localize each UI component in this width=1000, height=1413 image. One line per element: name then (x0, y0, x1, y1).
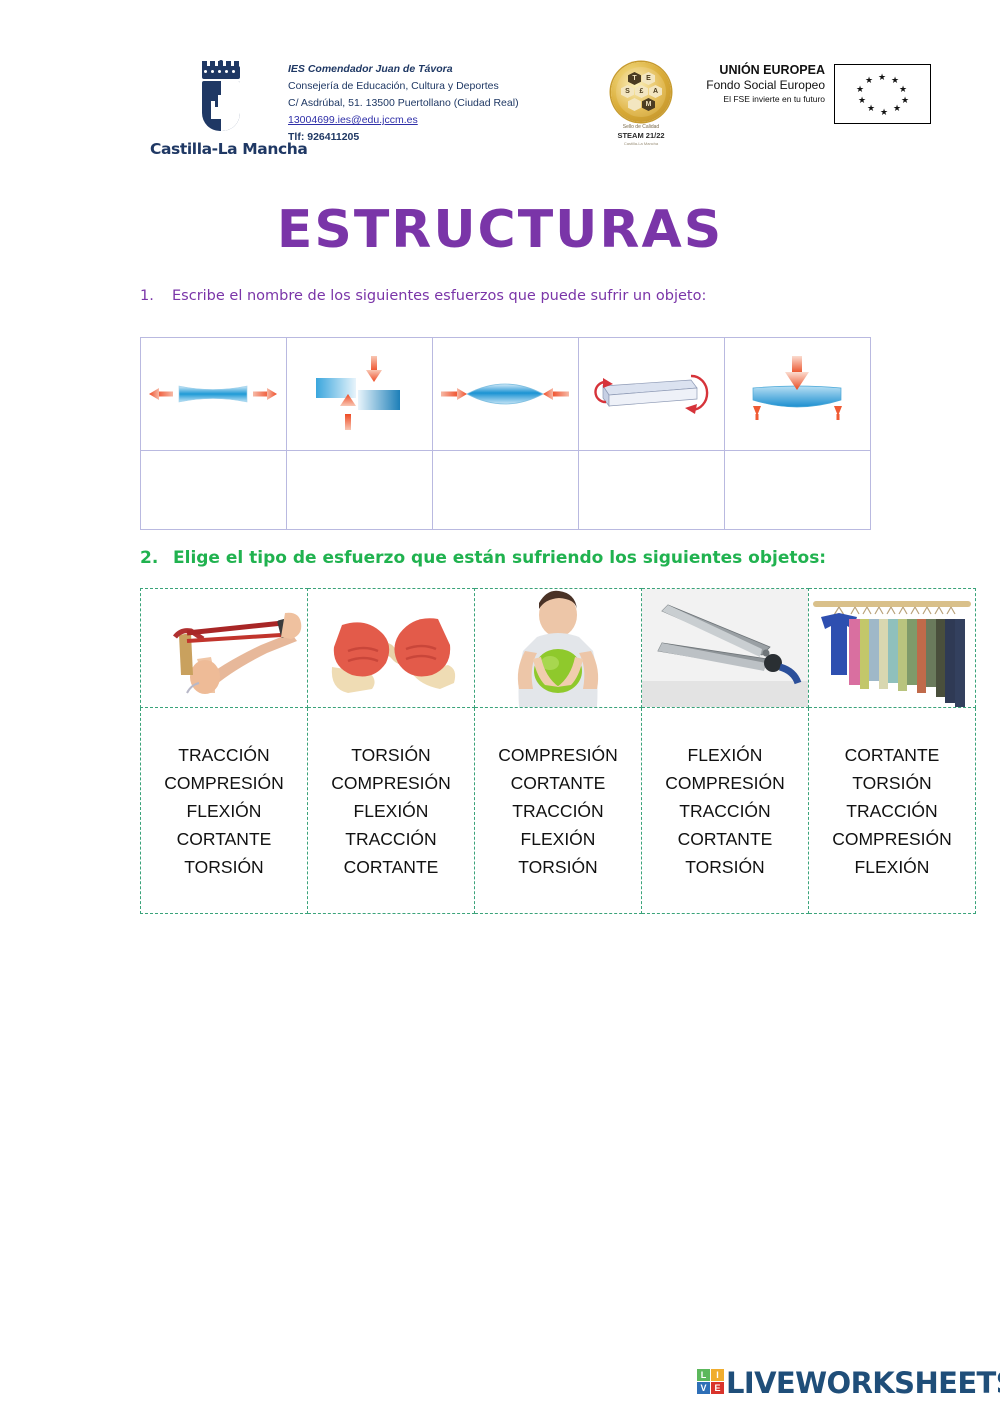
cell-options-4[interactable]: FLEXIÓN COMPRESIÓN TRACCIÓN CORTANTE TOR… (642, 708, 809, 914)
page-header: Castilla-La Mancha IES Comendador Juan d… (0, 0, 1000, 185)
question-2-text: Elige el tipo de esfuerzo que están sufr… (173, 548, 826, 568)
cell-diagram-traccion (141, 338, 287, 451)
liveworksheets-wordmark: LIVEWORKSHEETS (726, 1366, 1000, 1400)
question-1: 1.Escribe el nombre de los siguientes es… (140, 288, 706, 304)
hex-center: £ (635, 85, 648, 98)
eu-flag-icon: ★ ★ ★ ★ ★ ★ ★ ★ ★ ★ (834, 64, 931, 124)
school-address-block: IES Comendador Juan de Távora Consejería… (288, 60, 578, 146)
traccion-diagram (141, 338, 286, 450)
option-item[interactable]: CORTANTE (477, 769, 639, 797)
page-title: ESTRUCTURAS (0, 200, 1000, 260)
hex-t: T (628, 72, 641, 85)
seal-medal-icon: T E S £ A M (611, 62, 671, 122)
photo-wringing-cloth (308, 589, 474, 707)
eu-funding-block: UNIÓN EUROPEA Fondo Social Europeo El FS… (700, 62, 930, 122)
options-list-4[interactable]: FLEXIÓN COMPRESIÓN TRACCIÓN CORTANTE TOR… (642, 735, 808, 887)
cortante-diagram (287, 338, 432, 450)
photo-slingshot (141, 589, 307, 707)
option-item[interactable]: TORSIÓN (310, 741, 472, 769)
cell-options-1[interactable]: TRACCIÓN COMPRESIÓN FLEXIÓN CORTANTE TOR… (141, 708, 308, 914)
email-link[interactable]: 13004699.ies@edu.jccm.es (288, 112, 578, 129)
cell-diagram-compresion (433, 338, 579, 451)
option-item[interactable]: FLEXIÓN (477, 825, 639, 853)
option-item[interactable]: TRACCIÓN (477, 797, 639, 825)
cell-diagram-flexion (725, 338, 871, 451)
hex-blank (628, 98, 641, 111)
option-item[interactable]: FLEXIÓN (644, 741, 806, 769)
option-item[interactable]: COMPRESIÓN (811, 825, 973, 853)
answer-cell-4[interactable] (579, 451, 725, 530)
cell-diagram-torsion (579, 338, 725, 451)
department-line: Consejería de Educación, Cultura y Depor… (288, 78, 578, 95)
answer-row (141, 451, 871, 530)
option-item[interactable]: CORTANTE (310, 853, 472, 881)
answer-cell-5[interactable] (725, 451, 871, 530)
seal-caption: Sello de Calidad STEAM 21/22 Castilla-La… (605, 124, 677, 147)
compresion-diagram (433, 338, 578, 450)
option-item[interactable]: TORSIÓN (477, 853, 639, 881)
option-item[interactable]: COMPRESIÓN (477, 741, 639, 769)
hex-e: E (642, 72, 655, 85)
tile-e: E (711, 1382, 724, 1394)
photo-scissors (642, 589, 808, 707)
diagram-row (141, 338, 871, 451)
eu-line-3: El FSE invierte en tu futuro (700, 93, 825, 105)
cell-options-3[interactable]: COMPRESIÓN CORTANTE TRACCIÓN FLEXIÓN TOR… (475, 708, 642, 914)
option-item[interactable]: TORSIÓN (644, 853, 806, 881)
cell-photo-wringing (308, 589, 475, 708)
option-item[interactable]: CORTANTE (644, 825, 806, 853)
tile-v: V (697, 1382, 710, 1394)
option-item[interactable]: CORTANTE (143, 825, 305, 853)
option-item[interactable]: TRACCIÓN (310, 825, 472, 853)
question-2: 2.Elige el tipo de esfuerzo que están su… (140, 548, 826, 568)
option-item[interactable]: CORTANTE (811, 741, 973, 769)
answer-cell-1[interactable] (141, 451, 287, 530)
esfuerzos-diagram-table (140, 337, 871, 530)
option-item[interactable]: FLEXIÓN (143, 797, 305, 825)
option-item[interactable]: TRACCIÓN (644, 797, 806, 825)
cell-options-2[interactable]: TORSIÓN COMPRESIÓN FLEXIÓN TRACCIÓN CORT… (308, 708, 475, 914)
option-item[interactable]: COMPRESIÓN (310, 769, 472, 797)
hex-s: S (621, 85, 634, 98)
cell-options-5[interactable]: CORTANTE TORSIÓN TRACCIÓN COMPRESIÓN FLE… (809, 708, 976, 914)
photo-row (141, 589, 976, 708)
option-item[interactable]: TRACCIÓN (143, 741, 305, 769)
option-item[interactable]: TORSIÓN (811, 769, 973, 797)
answer-cell-3[interactable] (433, 451, 579, 530)
eu-line-1: UNIÓN EUROPEA (700, 62, 825, 78)
liveworksheets-logo[interactable]: L I V E LIVEWORKSHEETS (697, 1366, 997, 1400)
option-item[interactable]: TORSIÓN (143, 853, 305, 881)
option-item[interactable]: FLEXIÓN (811, 853, 973, 881)
castilla-la-mancha-logo: Castilla-La Mancha (150, 58, 290, 166)
hex-a: A (649, 85, 662, 98)
tile-i: I (711, 1369, 724, 1381)
tile-l: L (697, 1369, 710, 1381)
cell-photo-slingshot (141, 589, 308, 708)
question-1-text: Escribe el nombre de los siguientes esfu… (172, 288, 706, 304)
options-row: TRACCIÓN COMPRESIÓN FLEXIÓN CORTANTE TOR… (141, 708, 976, 914)
photo-clothes-rack (809, 589, 975, 707)
torsion-diagram (579, 338, 724, 450)
street-address-line: C/ Asdrúbal, 51. 13500 Puertollano (Ciud… (288, 95, 578, 112)
cell-photo-scissors (642, 589, 809, 708)
steam-quality-seal: T E S £ A M Sello de Calidad STEAM 21/22… (605, 62, 677, 162)
question-2-number: 2. (140, 548, 173, 568)
eu-line-2: Fondo Social Europeo (700, 78, 825, 93)
options-list-2[interactable]: TORSIÓN COMPRESIÓN FLEXIÓN TRACCIÓN CORT… (308, 735, 474, 887)
castle-icon (211, 95, 229, 119)
question-1-number: 1. (140, 288, 172, 304)
option-item[interactable]: FLEXIÓN (310, 797, 472, 825)
hex-m: M (642, 98, 655, 111)
shield-icon (190, 58, 252, 136)
option-item[interactable]: COMPRESIÓN (143, 769, 305, 797)
cell-diagram-cortante (287, 338, 433, 451)
options-list-3[interactable]: COMPRESIÓN CORTANTE TRACCIÓN FLEXIÓN TOR… (475, 735, 641, 887)
answer-cell-2[interactable] (287, 451, 433, 530)
photo-squeezing-ball (475, 589, 641, 707)
cell-photo-clothes (809, 589, 976, 708)
seal-caption-line2: STEAM 21/22 (605, 131, 677, 141)
school-name: IES Comendador Juan de Távora (288, 60, 578, 78)
logo-caption: Castilla-La Mancha (150, 140, 290, 158)
options-list-5[interactable]: CORTANTE TORSIÓN TRACCIÓN COMPRESIÓN FLE… (809, 735, 975, 887)
option-item[interactable]: TRACCIÓN (811, 797, 973, 825)
option-item[interactable]: COMPRESIÓN (644, 769, 806, 797)
flexion-diagram (725, 338, 870, 450)
seal-caption-line1: Sello de Calidad (605, 124, 677, 131)
seal-caption-line3: Castilla-La Mancha (605, 141, 677, 147)
options-list-1[interactable]: TRACCIÓN COMPRESIÓN FLEXIÓN CORTANTE TOR… (141, 735, 307, 887)
objetos-options-table: TRACCIÓN COMPRESIÓN FLEXIÓN CORTANTE TOR… (140, 588, 976, 914)
liveworksheets-tiles-icon: L I V E (697, 1369, 724, 1395)
cell-photo-ball (475, 589, 642, 708)
phone-line: Tlf: 926411205 (288, 129, 578, 146)
